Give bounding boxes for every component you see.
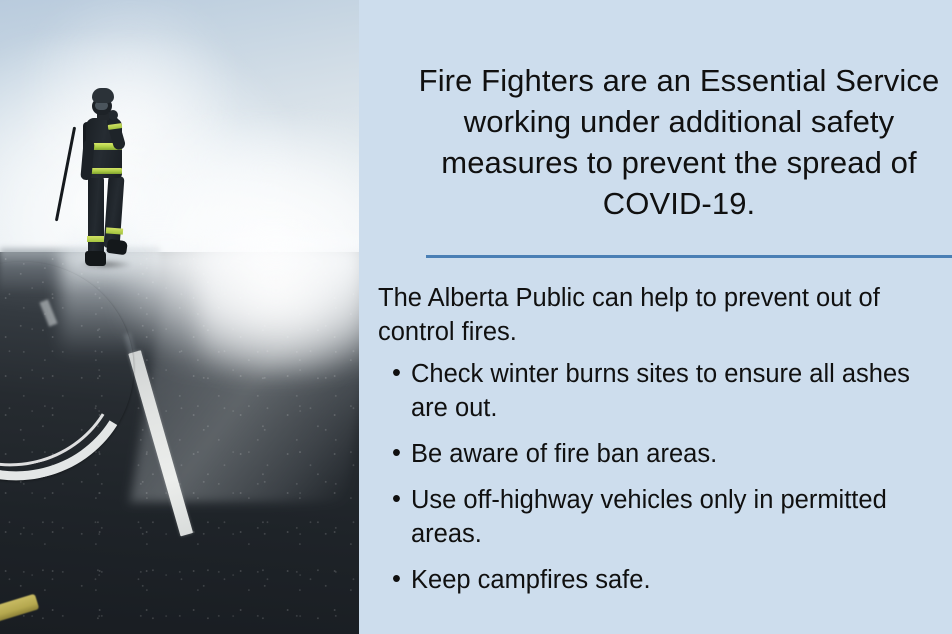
reflective-stripe-waist <box>87 168 122 174</box>
bullet-glyph-icon: • <box>392 356 401 390</box>
title-line-4: COVID-19. <box>359 183 952 224</box>
figure-boot-left <box>85 251 106 266</box>
reflective-stripe-ankle-left <box>87 236 104 242</box>
figure-leg-left <box>88 176 104 254</box>
bullet-2-line-1: Be aware of fire ban areas. <box>411 437 952 471</box>
reflective-stripe-ankle-right <box>106 227 123 234</box>
bullet-glyph-icon: • <box>392 562 401 596</box>
title-line-2: working under additional safety <box>359 101 952 142</box>
lead-line-2: control fires. <box>378 315 952 349</box>
slide-canvas: Fire Fighters are an Essential Service w… <box>0 0 952 634</box>
bullet-1-line-2: are out. <box>411 391 952 425</box>
bullet-glyph-icon: • <box>392 436 401 470</box>
lead-paragraph: The Alberta Public can help to prevent o… <box>378 281 952 349</box>
bullet-4-line-1: Keep campfires safe. <box>411 563 952 597</box>
title-line-1: Fire Fighters are an Essential Service <box>359 60 952 101</box>
title-divider-rule <box>426 255 952 258</box>
bullet-3-line-2: areas. <box>411 517 952 551</box>
content-panel: Fire Fighters are an Essential Service w… <box>359 0 952 634</box>
bullet-3-line-1: Use off-highway vehicles only in permitt… <box>411 483 952 517</box>
list-item: • Use off-highway vehicles only in permi… <box>378 483 952 551</box>
list-item: • Keep campfires safe. <box>378 563 952 597</box>
firefighter-helmet <box>92 88 114 103</box>
lead-line-1: The Alberta Public can help to prevent o… <box>378 281 952 315</box>
bullet-glyph-icon: • <box>392 482 401 516</box>
list-item: • Check winter burns sites to ensure all… <box>378 357 952 425</box>
firefighter-photo <box>0 0 359 634</box>
prevention-tips-list: • Check winter burns sites to ensure all… <box>378 357 952 597</box>
smoke-plume-right <box>200 230 359 380</box>
list-item: • Be aware of fire ban areas. <box>378 437 952 471</box>
firefighter-figure <box>74 88 136 270</box>
body-content: The Alberta Public can help to prevent o… <box>378 281 952 609</box>
bullet-1-line-1: Check winter burns sites to ensure all a… <box>411 357 952 391</box>
figure-boot-right <box>106 239 128 256</box>
title-line-3: measures to prevent the spread of <box>359 142 952 183</box>
slide-title: Fire Fighters are an Essential Service w… <box>359 60 952 224</box>
